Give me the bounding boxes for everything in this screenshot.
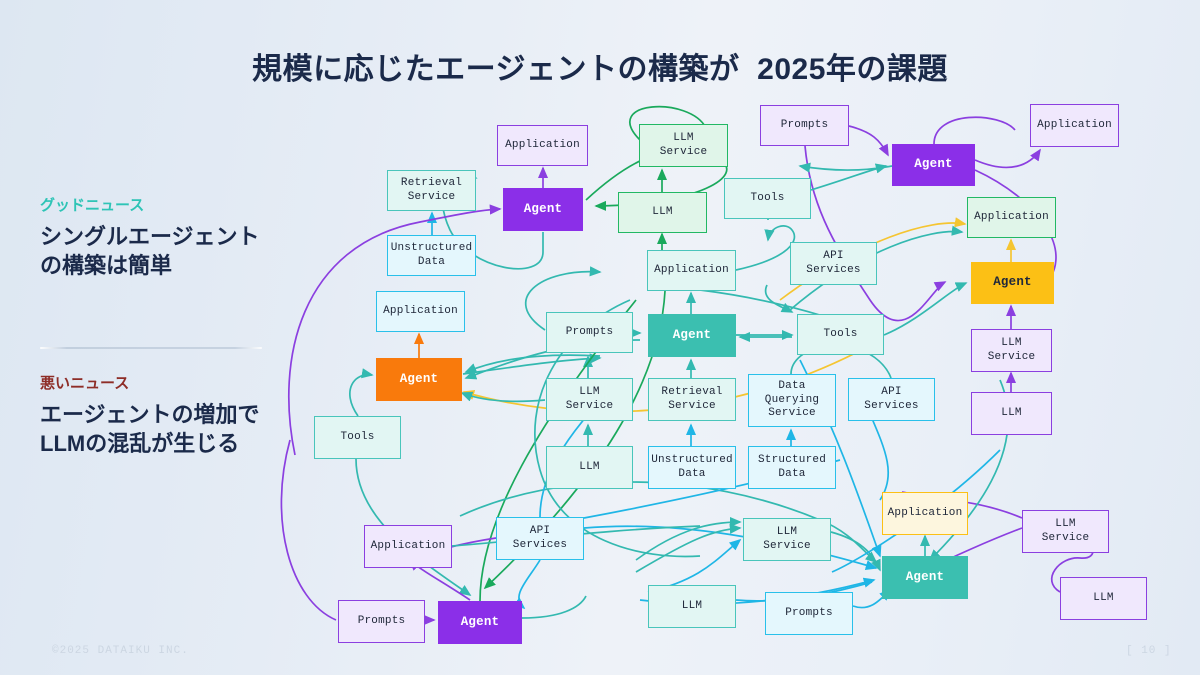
diagram-node-label: Structured Data	[758, 454, 826, 481]
diagram-node-label: LLM	[652, 206, 672, 219]
diagram-node-label: Tools	[340, 431, 374, 444]
diagram-node-label: LLM Service	[566, 386, 614, 413]
diagram-node-agent[interactable]: Agent	[892, 144, 975, 186]
diagram-node-llm[interactable]: LLM	[618, 192, 707, 233]
diagram-node-label: Application	[888, 507, 963, 520]
diagram-node-application[interactable]: Application	[882, 492, 968, 535]
diagram-node-label: Unstructured Data	[391, 242, 473, 269]
diagram-node-label: Tools	[823, 328, 857, 341]
diagram-node-llm[interactable]: LLM	[648, 585, 736, 628]
diagram-node-label: Agent	[524, 202, 563, 217]
diagram-node-unstructured-data[interactable]: Unstructured Data	[648, 446, 736, 489]
diagram-node-label: Agent	[906, 570, 945, 585]
diagram-node-label: Agent	[914, 157, 953, 172]
diagram-node-label: Prompts	[781, 119, 829, 132]
diagram-node-label: Data Querying Service	[765, 380, 819, 420]
diagram-node-label: LLM Service	[660, 132, 708, 159]
diagram-node-label: Agent	[400, 372, 439, 387]
copyright-footer: ©2025 DATAIKU INC.	[52, 645, 189, 657]
diagram-node-llm-service[interactable]: LLM Service	[743, 518, 831, 561]
diagram-node-prompts[interactable]: Prompts	[546, 312, 633, 353]
diagram-node-label: API Services	[864, 386, 918, 413]
diagram-node-label: LLM	[1093, 592, 1113, 605]
diagram-node-label: Unstructured Data	[651, 454, 733, 481]
diagram-node-label: LLM Service	[1042, 518, 1090, 545]
slide-canvas: 規模に応じたエージェントの構築が 2025年の課題 グッドニュース シングルエー…	[0, 0, 1200, 675]
diagram-node-label: LLM	[1001, 407, 1021, 420]
diagram-node-data-querying-service[interactable]: Data Querying Service	[748, 374, 836, 427]
page-number: [ 10 ]	[1126, 645, 1172, 657]
diagram-node-label: LLM Service	[763, 526, 811, 553]
diagram-node-agent[interactable]: Agent	[648, 314, 736, 357]
diagram-node-structured-data[interactable]: Structured Data	[748, 446, 836, 489]
diagram-node-label: LLM Service	[988, 337, 1036, 364]
diagram-node-llm-service[interactable]: LLM Service	[1022, 510, 1109, 553]
diagram-node-agent[interactable]: Agent	[503, 188, 583, 231]
diagram-node-label: Prompts	[358, 615, 406, 628]
diagram-node-label: API Services	[513, 525, 567, 552]
diagram-node-llm[interactable]: LLM	[546, 446, 633, 489]
diagram-node-prompts[interactable]: Prompts	[338, 600, 425, 643]
diagram-node-retrieval-service[interactable]: Retrieval Service	[648, 378, 736, 421]
diagram-node-label: Agent	[993, 275, 1032, 290]
diagram-node-label: LLM	[682, 600, 702, 613]
diagram-node-llm[interactable]: LLM	[971, 392, 1052, 435]
diagram-node-label: LLM	[579, 461, 599, 474]
diagram-node-application[interactable]: Application	[364, 525, 452, 568]
diagram-node-prompts[interactable]: Prompts	[760, 105, 849, 146]
diagram-node-agent[interactable]: Agent	[376, 358, 462, 401]
diagram-node-application[interactable]: Application	[376, 291, 465, 332]
diagram-node-unstructured-data[interactable]: Unstructured Data	[387, 235, 476, 276]
diagram-node-label: Application	[383, 305, 458, 318]
diagram-node-application[interactable]: Application	[647, 250, 736, 291]
agent-architecture-diagram: ApplicationRetrieval ServiceAgentUnstruc…	[0, 0, 1200, 675]
diagram-node-label: Retrieval Service	[661, 386, 722, 413]
diagram-node-tools[interactable]: Tools	[314, 416, 401, 459]
diagram-node-retrieval-service[interactable]: Retrieval Service	[387, 170, 476, 211]
diagram-node-label: Application	[1037, 119, 1112, 132]
diagram-node-label: API Services	[806, 250, 860, 277]
diagram-node-application[interactable]: Application	[967, 197, 1056, 238]
diagram-node-label: Prompts	[785, 607, 833, 620]
diagram-node-label: Application	[505, 139, 580, 152]
diagram-node-label: Agent	[461, 615, 500, 630]
diagram-node-agent[interactable]: Agent	[882, 556, 968, 599]
diagram-node-label: Application	[974, 211, 1049, 224]
diagram-node-api-services[interactable]: API Services	[848, 378, 935, 421]
diagram-node-tools[interactable]: Tools	[797, 314, 884, 355]
diagram-node-api-services[interactable]: API Services	[790, 242, 877, 285]
diagram-node-llm-service[interactable]: LLM Service	[639, 124, 728, 167]
diagram-node-label: Application	[371, 540, 446, 553]
diagram-node-llm-service[interactable]: LLM Service	[546, 378, 633, 421]
diagram-node-application[interactable]: Application	[497, 125, 588, 166]
diagram-node-application[interactable]: Application	[1030, 104, 1119, 147]
diagram-node-llm-service[interactable]: LLM Service	[971, 329, 1052, 372]
diagram-node-label: Application	[654, 264, 729, 277]
diagram-node-prompts[interactable]: Prompts	[765, 592, 853, 635]
diagram-node-agent[interactable]: Agent	[438, 601, 522, 644]
diagram-node-agent[interactable]: Agent	[971, 262, 1054, 304]
diagram-node-label: Agent	[673, 328, 712, 343]
diagram-node-label: Prompts	[566, 326, 614, 339]
diagram-node-label: Retrieval Service	[401, 177, 462, 204]
diagram-node-label: Tools	[750, 192, 784, 205]
diagram-node-api-services[interactable]: API Services	[496, 517, 584, 560]
diagram-node-llm[interactable]: LLM	[1060, 577, 1147, 620]
diagram-node-tools[interactable]: Tools	[724, 178, 811, 219]
